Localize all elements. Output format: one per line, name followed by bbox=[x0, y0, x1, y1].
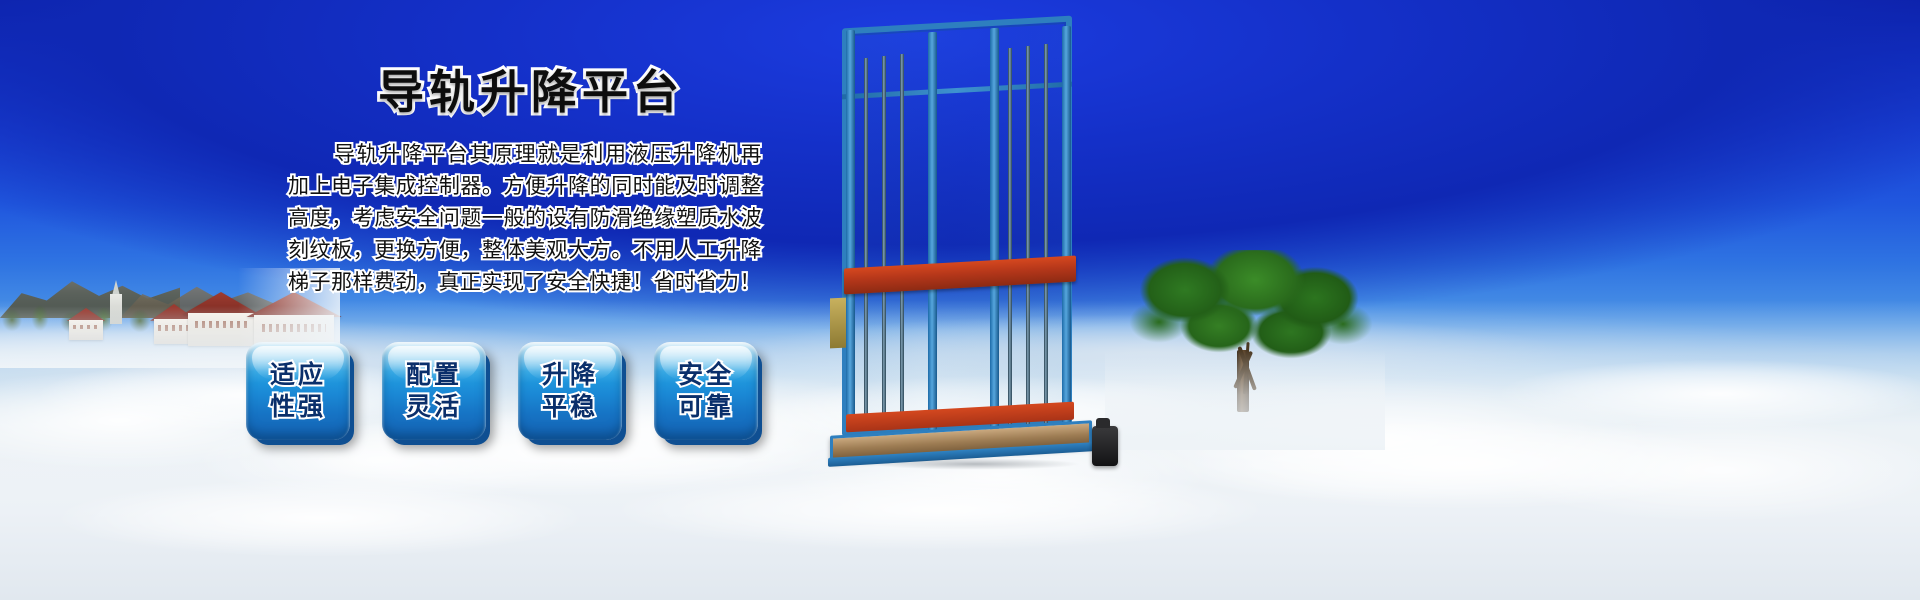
feature-button-line-2: 平稳 bbox=[542, 391, 598, 423]
feature-button-line-2: 可靠 bbox=[678, 391, 734, 423]
lift-post bbox=[990, 28, 999, 431]
feature-button-smooth-lifting[interactable]: 升降 平稳 bbox=[518, 342, 622, 440]
feature-button-adaptability[interactable]: 适应 性强 bbox=[246, 342, 350, 440]
guide-rail bbox=[900, 54, 904, 426]
machine-ground-shadow bbox=[830, 456, 1120, 472]
feature-button-line-1: 配置 bbox=[406, 359, 462, 391]
tree-branches bbox=[1223, 342, 1271, 408]
feature-button-row: 适应 性强 配置 灵活 升降 平稳 安全 可靠 bbox=[246, 342, 786, 452]
feature-button-line-1: 安全 bbox=[678, 359, 734, 391]
cloud-wisp bbox=[1500, 360, 1920, 428]
guide-rail-lift-platform bbox=[820, 12, 1130, 482]
feature-button-safety[interactable]: 安全 可靠 bbox=[654, 342, 758, 440]
feature-button-line-1: 升降 bbox=[542, 359, 598, 391]
feature-button-configuration[interactable]: 配置 灵活 bbox=[382, 342, 486, 440]
cloud-wisp bbox=[60, 480, 580, 556]
guide-rail bbox=[1026, 46, 1030, 424]
village-house bbox=[66, 308, 106, 340]
control-box bbox=[830, 298, 846, 349]
lift-post bbox=[928, 32, 937, 431]
guide-rail bbox=[1044, 44, 1048, 424]
guide-rail bbox=[1008, 48, 1012, 424]
guide-rail bbox=[864, 58, 868, 426]
cloud-wisp bbox=[620, 470, 1260, 550]
lift-post bbox=[846, 30, 855, 431]
page-title: 导轨升降平台 bbox=[378, 56, 684, 122]
guide-rail bbox=[882, 56, 886, 426]
promo-banner: 导轨升降平台 导轨升降平台其原理就是利用液压升降机再加上电子集成控制器。方便升降… bbox=[0, 0, 1920, 600]
feature-button-line-1: 适应 bbox=[270, 359, 326, 391]
lift-post bbox=[1062, 26, 1071, 431]
description-paragraph: 导轨升降平台其原理就是利用液压升降机再加上电子集成控制器。方便升降的同时能及时调… bbox=[288, 138, 762, 298]
green-tree-scenery bbox=[1105, 250, 1385, 450]
feature-button-line-2: 灵活 bbox=[406, 391, 462, 423]
feature-button-line-2: 性强 bbox=[270, 391, 326, 423]
church-steeple bbox=[108, 280, 124, 324]
lift-mast-frame bbox=[842, 16, 1072, 437]
